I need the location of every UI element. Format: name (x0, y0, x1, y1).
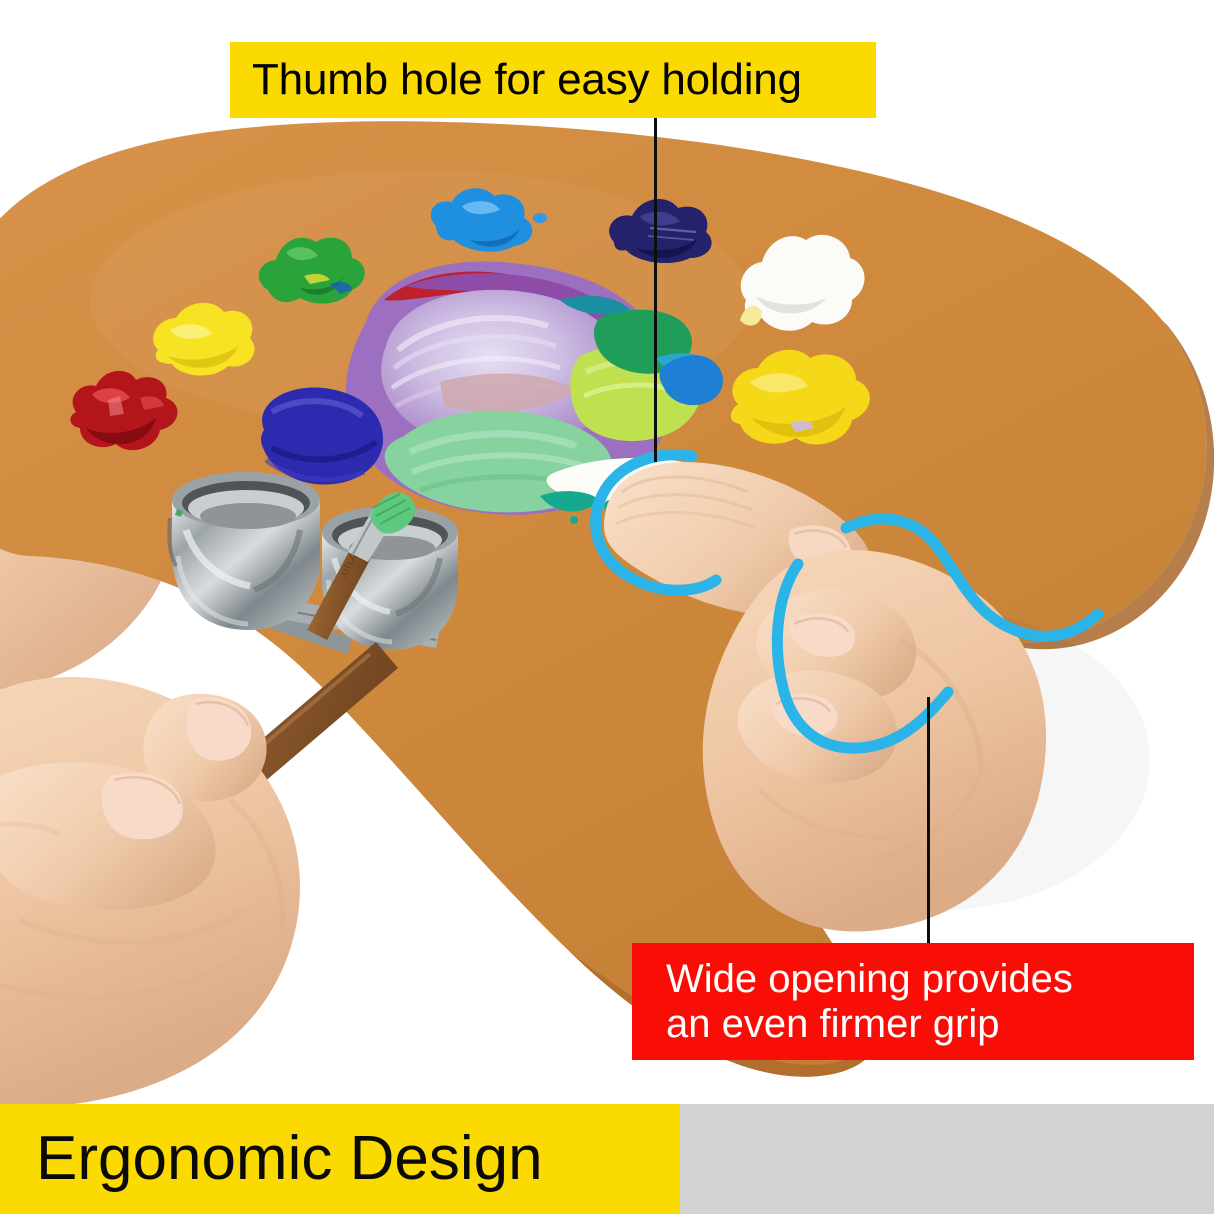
callout-wide-opening: Wide opening provides an even firmer gri… (632, 943, 1194, 1060)
brush-hand (0, 642, 398, 1108)
infographic-canvas: XITLA (0, 0, 1214, 1214)
callout-thumb-hole-text: Thumb hole for easy holding (252, 58, 802, 102)
footer-bar: Ergonomic Design (0, 1104, 1214, 1214)
metal-dipper-cup-left (169, 472, 320, 630)
leader-line-wide-opening (927, 697, 930, 943)
callout-thumb-hole: Thumb hole for easy holding (230, 42, 876, 118)
leader-line-thumb-hole (654, 118, 657, 462)
footer-filler-block (680, 1104, 1214, 1214)
footer-title: Ergonomic Design (36, 1128, 543, 1190)
footer-title-block: Ergonomic Design (0, 1104, 680, 1214)
callout-wide-opening-text: Wide opening provides an even firmer gri… (666, 957, 1073, 1047)
